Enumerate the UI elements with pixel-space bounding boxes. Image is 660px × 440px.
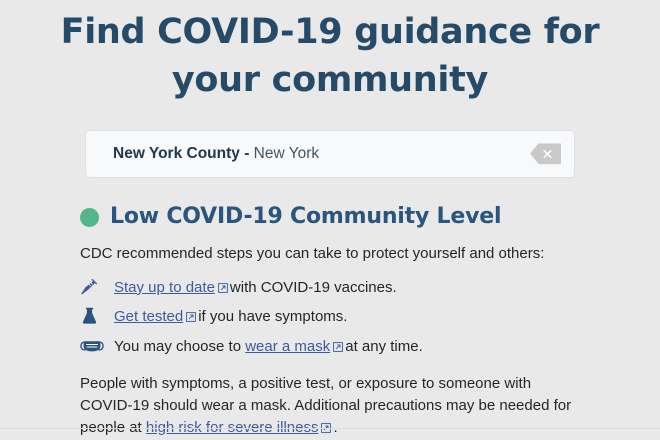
face-mask-icon [80, 336, 114, 356]
clear-search-button[interactable] [530, 143, 561, 164]
bottom-divider [0, 428, 660, 429]
step-text: You may choose to wear a mask at any tim… [114, 336, 423, 357]
green-status-dot-icon [80, 208, 99, 227]
guidance-content: Low COVID-19 Community Level CDC recomme… [70, 204, 590, 439]
list-item: You may choose to wear a mask at any tim… [80, 336, 590, 357]
selected-state: New York [254, 145, 319, 162]
location-search-wrapper: New York County - New York [85, 130, 575, 178]
step-prefix: You may choose to [114, 338, 241, 355]
external-link-icon [218, 283, 228, 293]
covid-guidance-page: Find COVID-19 guidance for your communit… [0, 0, 660, 440]
step-suffix: if you have symptoms. [198, 308, 347, 325]
list-item: Stay up to date with COVID-19 vaccines. [80, 277, 590, 298]
list-item: Get tested if you have symptoms. [80, 306, 590, 327]
recommendations-intro: CDC recommended steps you can take to pr… [80, 244, 590, 264]
wear-a-mask-link[interactable]: wear a mask [245, 338, 330, 355]
syringe-icon [80, 277, 114, 297]
recommended-steps-list: Stay up to date with COVID-19 vaccines. [80, 277, 590, 357]
step-text: Stay up to date with COVID-19 vaccines. [114, 277, 397, 298]
clear-tag-icon [539, 149, 552, 158]
community-level-heading: Low COVID-19 Community Level [80, 204, 590, 229]
selected-county: New York County - [113, 145, 249, 162]
stay-up-to-date-link[interactable]: Stay up to date [114, 279, 215, 296]
external-link-icon [186, 312, 196, 322]
get-tested-link[interactable]: Get tested [114, 308, 183, 325]
page-title: Find COVID-19 guidance for your communit… [0, 0, 660, 105]
location-search-value: New York County - New York [113, 145, 319, 163]
step-text: Get tested if you have symptoms. [114, 306, 347, 327]
location-search-input[interactable]: New York County - New York [85, 130, 575, 178]
flask-icon [80, 306, 114, 326]
community-level-label: Low COVID-19 Community Level [110, 204, 501, 229]
step-suffix: at any time. [345, 338, 423, 355]
step-suffix: with COVID-19 vaccines. [230, 279, 397, 296]
external-link-icon [333, 342, 343, 352]
